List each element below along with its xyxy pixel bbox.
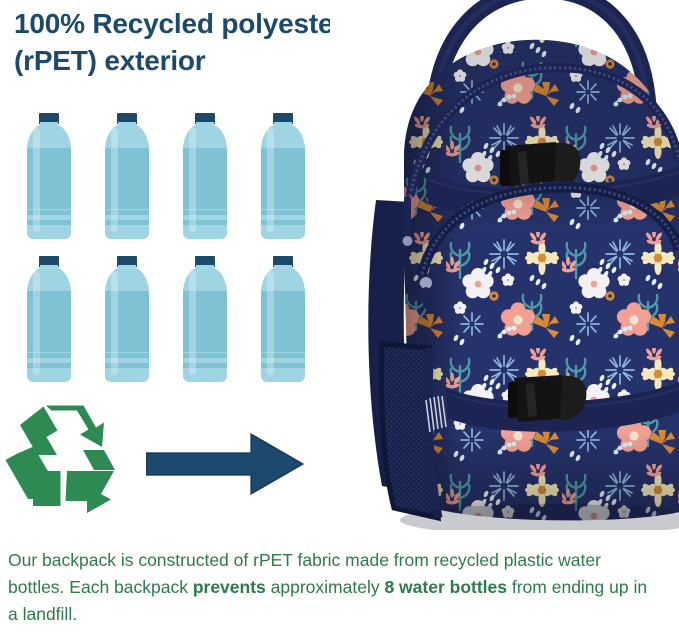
caption-emphasis-prevents: prevents (193, 577, 266, 597)
water-bottle-icon (105, 113, 149, 239)
arrow-right-icon (146, 432, 304, 496)
water-bottle-icon (27, 256, 71, 382)
navy-floral-backpack-photo (330, 0, 679, 530)
bottle-highlight (267, 271, 274, 375)
water-bottle-grid (14, 108, 314, 393)
lower-buckle (508, 375, 586, 422)
bottle-body (27, 124, 71, 239)
caption-emphasis-bottles: 8 water bottles (384, 577, 507, 597)
bottle-highlight (111, 271, 118, 375)
bottle-highlight (189, 271, 196, 375)
bottle-highlight (33, 271, 40, 375)
water-bottle-icon (27, 113, 71, 239)
bottle-highlight (267, 128, 274, 232)
recycle-symbol-icon (3, 400, 127, 522)
bottle-body (105, 124, 149, 239)
infographic-canvas: 100% Recycled polyester (rPET) exterior (0, 0, 679, 637)
caption-part-2: approximately (266, 577, 385, 597)
arrow-shape (146, 434, 303, 494)
bottle-highlight (33, 128, 40, 232)
bottle-highlight (189, 128, 196, 232)
bottle-body (261, 267, 305, 382)
bottle-body (183, 124, 227, 239)
water-bottle-icon (105, 256, 149, 382)
water-bottle-icon (261, 256, 305, 382)
bottle-body (105, 267, 149, 382)
bottle-body (261, 124, 305, 239)
water-bottle-icon (183, 113, 227, 239)
caption-text: Our backpack is constructed of rPET fabr… (8, 547, 648, 627)
water-bottle-icon (183, 256, 227, 382)
zipper-pull (403, 196, 413, 246)
bottle-body (27, 267, 71, 382)
bottle-highlight (111, 128, 118, 232)
water-bottle-icon (261, 113, 305, 239)
bottle-body (183, 267, 227, 382)
